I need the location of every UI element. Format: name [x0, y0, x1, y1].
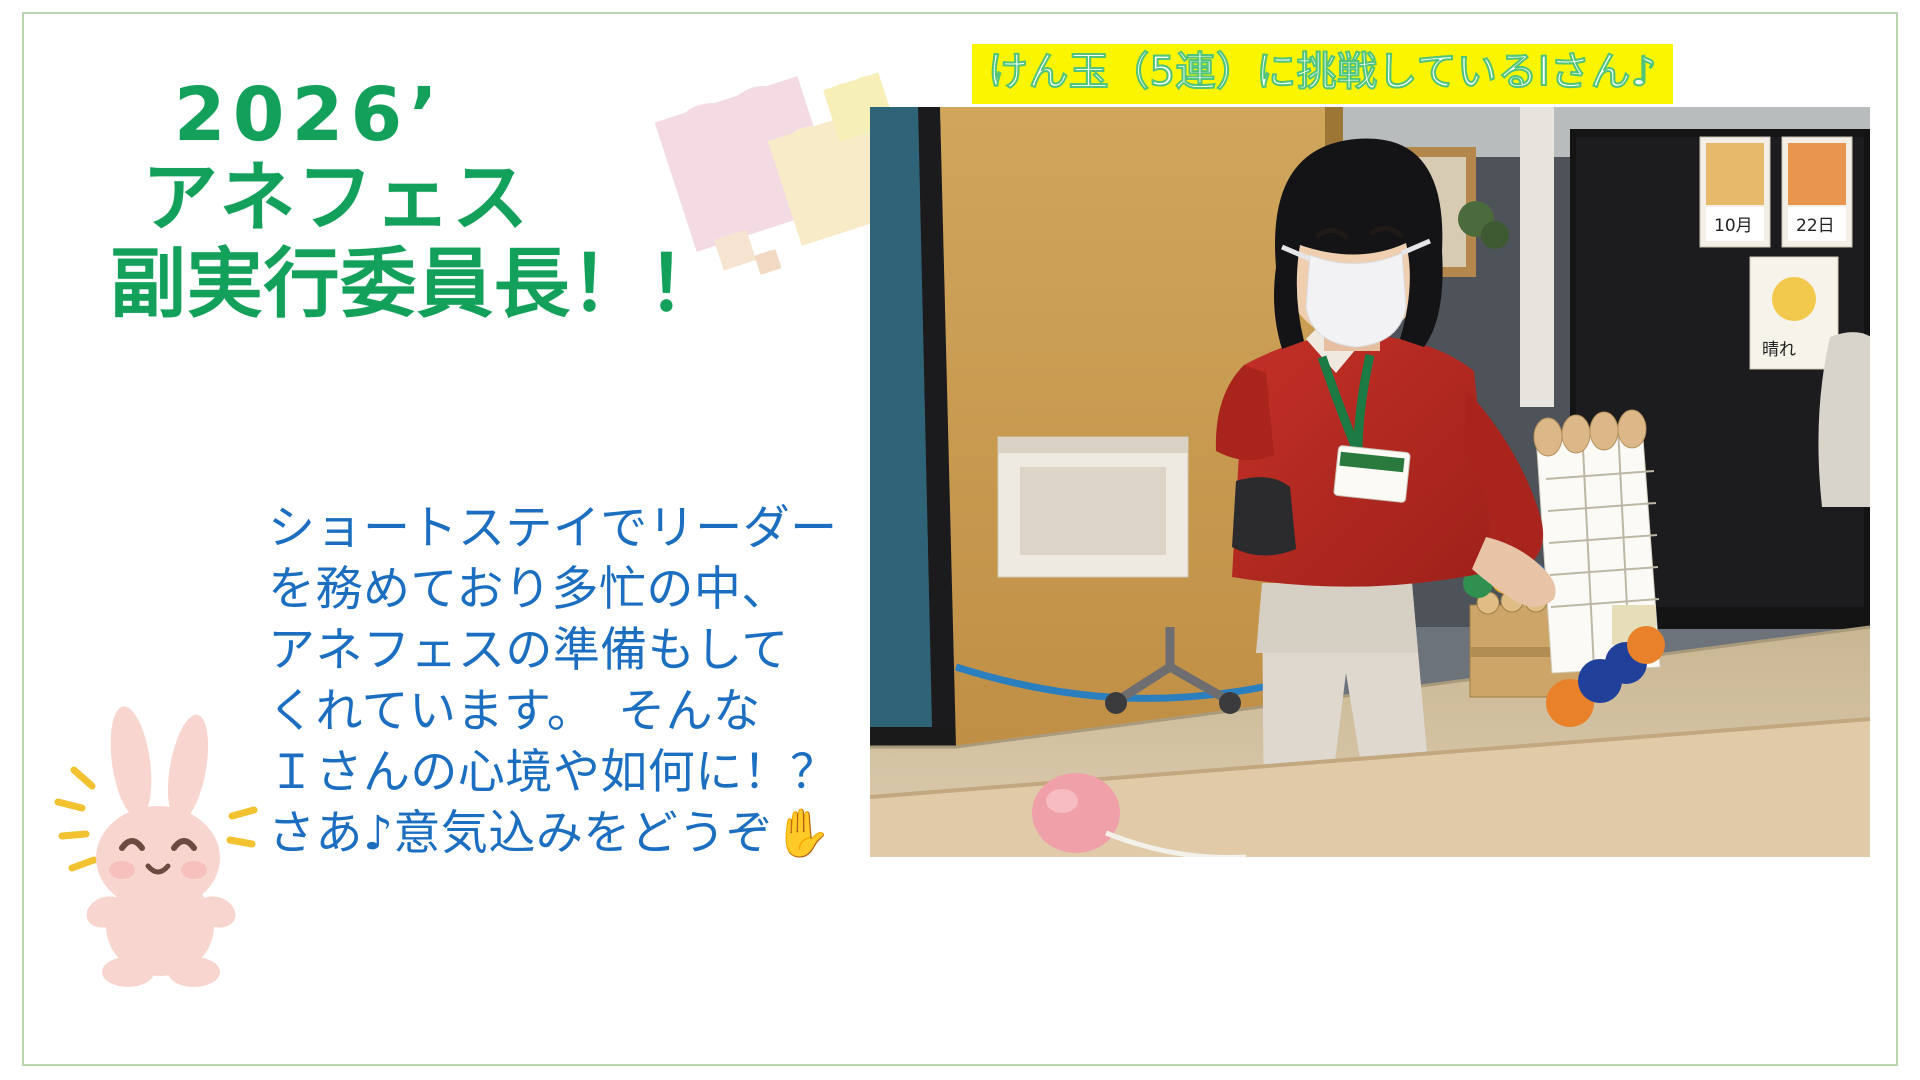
left-content-column: 2026’ アネフェス 副実行委員長！！ ショートステイでリーダー を務めており… — [0, 0, 860, 1080]
title-line-role: 副実行委員長！！ — [110, 245, 810, 323]
slide-canvas: 2026’ アネフェス 副実行委員長！！ ショートステイでリーダー を務めており… — [0, 0, 1920, 1080]
title-line-year: 2026’ — [110, 78, 810, 153]
svg-text:22日: 22日 — [1796, 216, 1835, 236]
page-title: 2026’ アネフェス 副実行委員長！！ — [110, 78, 810, 323]
title-line-event: アネフェス — [110, 159, 810, 237]
photo-caption-banner: けん玉（5連）に挑戦しているIさん♪ — [972, 44, 1673, 104]
rabbit-mascot-icon — [48, 690, 268, 990]
right-photo-column: けん玉（5連）に挑戦しているIさん♪ — [860, 0, 1920, 1080]
activity-photo: 10月 22日 晴れ — [870, 107, 1870, 857]
svg-text:10月: 10月 — [1714, 216, 1753, 236]
svg-text:晴れ: 晴れ — [1762, 340, 1796, 360]
